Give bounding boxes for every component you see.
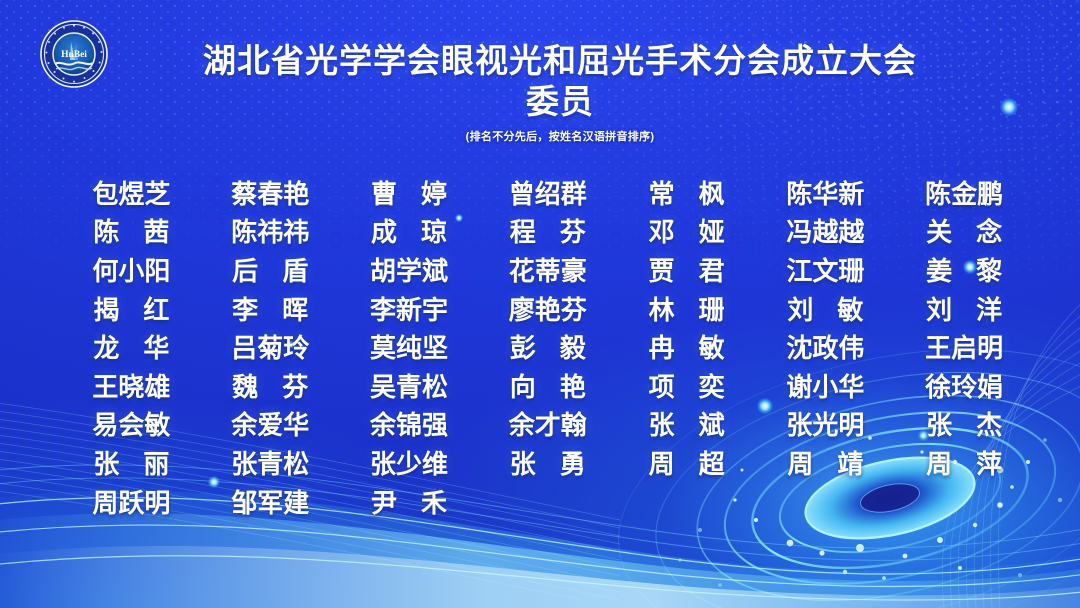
member-name: 张光明 bbox=[756, 405, 895, 442]
member-name: 冯越越 bbox=[756, 212, 895, 249]
name-row: 张丽张青松张少维张勇周超周靖周萍 bbox=[62, 443, 1034, 482]
member-name: 吴青松 bbox=[340, 367, 479, 404]
member-name: 包煜芝 bbox=[62, 174, 201, 211]
member-name: 陈华新 bbox=[756, 174, 895, 211]
name-row: 包煜芝蔡春艳曹婷曾绍群常枫陈华新陈金鹏 bbox=[62, 173, 1034, 212]
member-name: 王晓雄 bbox=[62, 367, 201, 404]
member-name: 陈茜 bbox=[62, 212, 201, 249]
member-name: 关念 bbox=[895, 212, 1034, 249]
member-name: 曹婷 bbox=[340, 174, 479, 211]
member-name: 曾绍群 bbox=[478, 174, 617, 211]
member-name: 张丽 bbox=[62, 444, 201, 481]
member-name: 龙华 bbox=[62, 328, 201, 365]
member-name: 陈祎祎 bbox=[201, 212, 340, 249]
name-row: 何小阳后盾胡学斌花蒂豪贾君江文珊姜黎 bbox=[62, 250, 1034, 289]
slide-canvas: HuBei 湖北省光学学会眼视光和屈光手术分会成立大会 委员 (排名不分先后，按… bbox=[0, 0, 1080, 608]
page-subtitle-role: 委员 bbox=[150, 81, 970, 122]
member-name: 李晖 bbox=[201, 290, 340, 327]
member-name: 周超 bbox=[617, 444, 756, 481]
logo-inner-text: HuBei bbox=[61, 50, 87, 60]
member-name: 谢小华 bbox=[756, 367, 895, 404]
member-name: 张少维 bbox=[340, 444, 479, 481]
member-name: 向艳 bbox=[478, 367, 617, 404]
member-name: 彭毅 bbox=[478, 328, 617, 365]
member-name: 冉敏 bbox=[617, 328, 756, 365]
member-name: 成琼 bbox=[340, 212, 479, 249]
title-block: 湖北省光学学会眼视光和屈光手术分会成立大会 委员 (排名不分先后，按姓名汉语拼音… bbox=[150, 40, 970, 144]
member-name: 周跃明 bbox=[62, 483, 201, 520]
name-row: 周跃明邹军建尹禾 bbox=[62, 482, 1034, 521]
member-name: 何小阳 bbox=[62, 251, 201, 288]
member-name: 江文珊 bbox=[756, 251, 895, 288]
member-name: 蔡春艳 bbox=[201, 174, 340, 211]
member-name: 易会敏 bbox=[62, 405, 201, 442]
member-name: 余才翰 bbox=[478, 405, 617, 442]
member-name: 周萍 bbox=[895, 444, 1034, 481]
member-name: 胡学斌 bbox=[340, 251, 479, 288]
ordering-note: (排名不分先后，按姓名汉语拼音排序) bbox=[150, 128, 970, 144]
member-name: 王启明 bbox=[895, 328, 1034, 365]
member-name: 姜黎 bbox=[895, 251, 1034, 288]
member-name: 吕菊玲 bbox=[201, 328, 340, 365]
member-name: 魏芬 bbox=[201, 367, 340, 404]
member-name: 张勇 bbox=[478, 444, 617, 481]
member-name: 徐玲娟 bbox=[895, 367, 1034, 404]
member-name: 周靖 bbox=[756, 444, 895, 481]
member-name: 邓娅 bbox=[617, 212, 756, 249]
member-name: 张青松 bbox=[201, 444, 340, 481]
member-name: 常枫 bbox=[617, 174, 756, 211]
name-row: 王晓雄魏芬吴青松向艳项奕谢小华徐玲娟 bbox=[62, 366, 1034, 405]
member-name: 李新宇 bbox=[340, 290, 479, 327]
name-row: 陈茜陈祎祎成琼程芬邓娅冯越越关念 bbox=[62, 212, 1034, 251]
member-name: 陈金鹏 bbox=[895, 174, 1034, 211]
member-name: 后盾 bbox=[201, 251, 340, 288]
page-title: 湖北省光学学会眼视光和屈光手术分会成立大会 bbox=[150, 40, 970, 81]
name-row: 揭红李晖李新宇廖艳芬林珊刘敏刘洋 bbox=[62, 289, 1034, 328]
member-name: 刘洋 bbox=[895, 290, 1034, 327]
member-name: 揭红 bbox=[62, 290, 201, 327]
name-row: 易会敏余爱华余锦强余才翰张斌张光明张杰 bbox=[62, 405, 1034, 444]
member-name: 张杰 bbox=[895, 405, 1034, 442]
member-name: 程芬 bbox=[478, 212, 617, 249]
member-name: 沈政伟 bbox=[756, 328, 895, 365]
hubei-optical-society-emblem-icon: HuBei bbox=[40, 20, 108, 88]
member-name: 尹禾 bbox=[340, 483, 479, 520]
member-name: 项奕 bbox=[617, 367, 756, 404]
member-name: 余爱华 bbox=[201, 405, 340, 442]
member-name: 花蒂豪 bbox=[478, 251, 617, 288]
member-name: 刘敏 bbox=[756, 290, 895, 327]
member-name: 莫纯坚 bbox=[340, 328, 479, 365]
member-name: 贾君 bbox=[617, 251, 756, 288]
member-name: 邹军建 bbox=[201, 483, 340, 520]
member-name: 余锦强 bbox=[340, 405, 479, 442]
name-row: 龙华吕菊玲莫纯坚彭毅冉敏沈政伟王启明 bbox=[62, 327, 1034, 366]
slide-header: HuBei 湖北省光学学会眼视光和屈光手术分会成立大会 委员 (排名不分先后，按… bbox=[0, 0, 1080, 160]
member-name: 林珊 bbox=[617, 290, 756, 327]
committee-member-grid: 包煜芝蔡春艳曹婷曾绍群常枫陈华新陈金鹏陈茜陈祎祎成琼程芬邓娅冯越越关念何小阳后盾… bbox=[62, 173, 1034, 520]
member-name: 张斌 bbox=[617, 405, 756, 442]
member-name: 廖艳芬 bbox=[478, 290, 617, 327]
